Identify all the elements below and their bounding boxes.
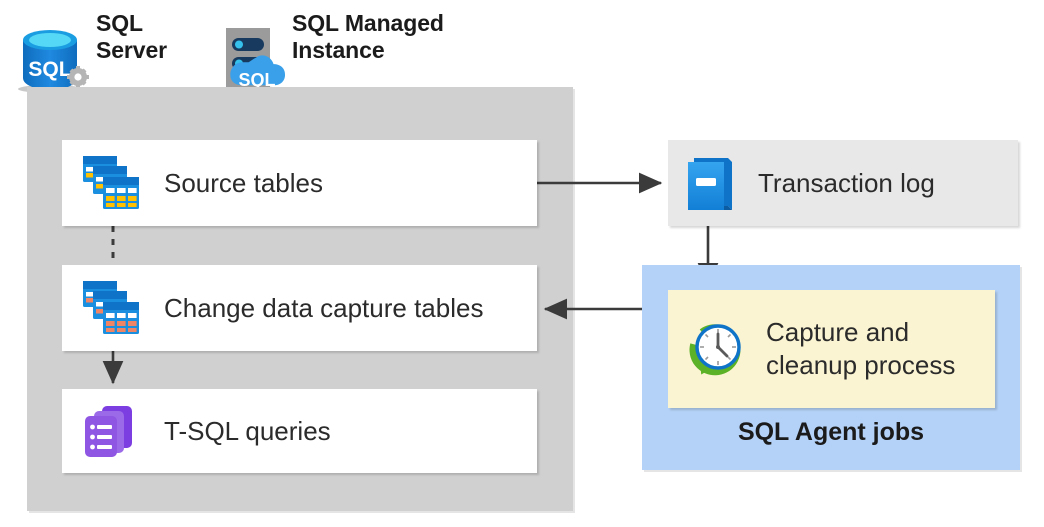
diagram-canvas: SQL SQL Server SQL	[0, 0, 1044, 527]
transaction-log-label: Transaction log	[758, 168, 935, 198]
capture-and-cleanup-process-label: Capture and cleanup process	[766, 316, 955, 382]
clock-refresh-icon	[688, 321, 744, 377]
row-tsql-queries-label: T-SQL queries	[164, 416, 331, 446]
row-source-tables-label: Source tables	[164, 168, 323, 198]
book-icon	[684, 154, 736, 212]
sql-agent-jobs-title: SQL Agent jobs	[642, 418, 1020, 447]
tables-yellow-icon	[80, 152, 142, 214]
row-change-data-capture-tables[interactable]: Change data capture tables	[62, 265, 537, 351]
row-tsql-queries[interactable]: T-SQL queries	[62, 389, 537, 473]
sql-server-database-icon: SQL	[14, 22, 90, 94]
sql-server-label: SQL Server	[96, 10, 226, 64]
box-transaction-log[interactable]: Transaction log	[668, 140, 1018, 226]
svg-text:SQL: SQL	[28, 58, 71, 81]
tables-orange-icon	[80, 277, 142, 339]
sql-managed-instance-label: SQL Managed Instance	[292, 10, 502, 64]
row-source-tables[interactable]: Source tables	[62, 140, 537, 226]
sql-managed-instance-icon: SQL	[218, 24, 292, 94]
tsql-query-list-icon	[80, 400, 142, 462]
row-change-data-capture-tables-label: Change data capture tables	[164, 293, 483, 323]
box-capture-and-cleanup-process[interactable]: Capture and cleanup process	[668, 290, 995, 408]
